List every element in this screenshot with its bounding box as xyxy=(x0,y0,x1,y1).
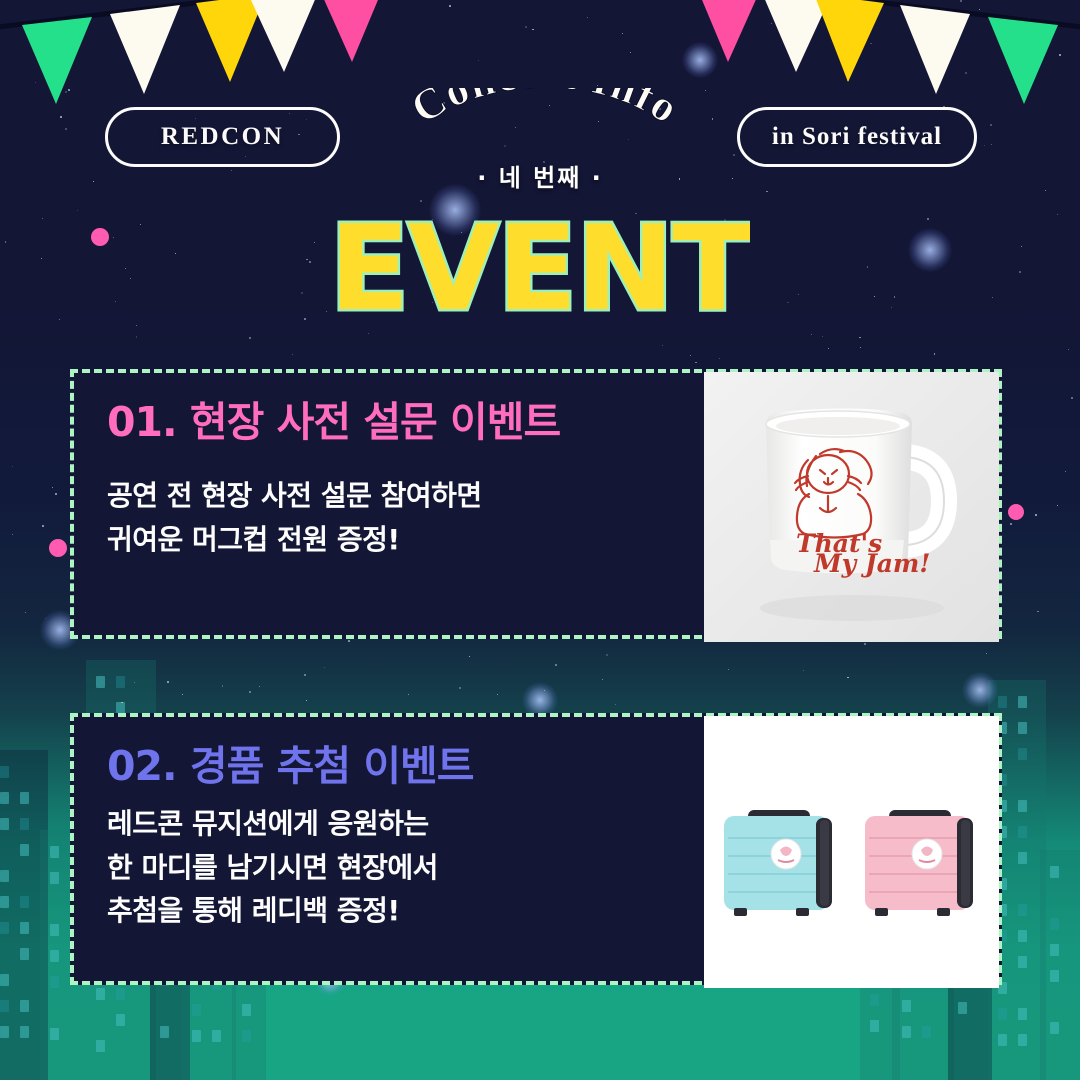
building-window xyxy=(1050,866,1059,878)
building-window xyxy=(1018,696,1027,708)
building-window xyxy=(1018,956,1027,968)
star xyxy=(12,466,13,467)
building-window xyxy=(212,1030,221,1042)
building-window xyxy=(870,1020,879,1032)
flag-right-yellow xyxy=(814,0,884,82)
building-window xyxy=(998,1034,1007,1046)
building-window xyxy=(116,988,125,1000)
pink-dot-2 xyxy=(49,539,67,557)
building-window xyxy=(20,948,29,960)
building-window xyxy=(0,922,9,934)
star xyxy=(1037,611,1039,613)
building xyxy=(1040,850,1080,1080)
building-window xyxy=(50,1028,59,1040)
mug-photo: That's My Jam! xyxy=(704,372,999,642)
building-window xyxy=(96,1040,105,1052)
star xyxy=(860,347,861,348)
building-window xyxy=(50,924,59,936)
star xyxy=(182,694,183,695)
building-window xyxy=(998,1008,1007,1020)
flag-right-pink xyxy=(692,0,762,62)
building-window xyxy=(1050,1022,1059,1034)
building-window xyxy=(0,766,9,778)
star xyxy=(1035,515,1036,516)
star xyxy=(695,362,697,364)
building-window xyxy=(20,818,29,830)
building-window xyxy=(50,872,59,884)
building-window xyxy=(1050,970,1059,982)
star xyxy=(555,664,557,666)
star xyxy=(304,674,305,675)
building-window xyxy=(116,676,125,688)
star xyxy=(719,358,720,359)
card-1-title: 01. 현장 사전 설문 이벤트 xyxy=(107,399,560,446)
star xyxy=(306,700,307,701)
building-window xyxy=(1018,1034,1027,1046)
building-window xyxy=(0,1026,9,1038)
star xyxy=(984,145,985,146)
building-window xyxy=(96,676,105,688)
mug-print-line-2: My Jam! xyxy=(813,549,930,578)
star xyxy=(45,618,46,619)
building-window xyxy=(20,844,29,856)
building-window xyxy=(1018,904,1027,916)
card-2-desc-line-1: 레드콘 뮤지션에게 응원하는 xyxy=(107,802,474,845)
building-window xyxy=(958,1002,967,1014)
building-window xyxy=(50,950,59,962)
building-window xyxy=(192,1004,201,1016)
building-window xyxy=(1018,722,1027,734)
suitcase-photo xyxy=(704,716,999,988)
star xyxy=(934,353,935,354)
building-window xyxy=(870,994,879,1006)
card-1-description: 공연 전 현장 사전 설문 참여하면 귀여운 머그컵 전원 증정! xyxy=(107,474,560,561)
star xyxy=(222,685,224,687)
building-window xyxy=(20,1000,29,1012)
building-window xyxy=(1018,748,1027,760)
flag-right-white-2 xyxy=(900,5,970,94)
star-glow xyxy=(962,672,998,708)
card-2-body: 02. 경품 추첨 이벤트 레드콘 뮤지션에게 응원하는 한 마디를 남기시면 … xyxy=(107,743,474,932)
building-window xyxy=(116,1014,125,1026)
star xyxy=(690,355,692,357)
building-window xyxy=(242,1030,251,1042)
star xyxy=(408,694,409,695)
star xyxy=(1065,471,1066,472)
star xyxy=(1057,505,1058,506)
star xyxy=(324,667,326,669)
star xyxy=(986,653,987,654)
star xyxy=(167,681,169,683)
flag-left-white-2 xyxy=(250,0,320,72)
star xyxy=(847,677,849,679)
flag-left-green xyxy=(22,17,92,104)
building-window xyxy=(20,922,29,934)
building-window xyxy=(20,896,29,908)
star xyxy=(469,656,470,657)
star xyxy=(348,640,350,642)
star xyxy=(121,702,122,703)
star xyxy=(1010,523,1012,525)
card-1-desc-line-1: 공연 전 현장 사전 설문 참여하면 xyxy=(107,474,560,517)
star xyxy=(828,348,829,349)
star xyxy=(615,704,617,706)
flag-right-white xyxy=(760,0,830,72)
star xyxy=(52,487,53,488)
building-window xyxy=(902,1026,911,1038)
card-1-body: 01. 현장 사전 설문 이벤트 공연 전 현장 사전 설문 참여하면 귀여운 … xyxy=(107,399,560,561)
arc-subtitle: · 네 번째 · xyxy=(0,158,1080,193)
star xyxy=(1071,397,1073,399)
pink-dot-4 xyxy=(1008,504,1024,520)
svg-text:Concert Info: Concert Info xyxy=(403,88,689,133)
flag-left-yellow xyxy=(196,0,266,82)
star xyxy=(249,691,251,693)
building-window xyxy=(96,988,105,1000)
card-2-desc-line-3: 추첨을 통해 레디백 증정! xyxy=(107,889,474,932)
card-2-title: 02. 경품 추첨 이벤트 xyxy=(107,743,474,790)
building-window xyxy=(160,1026,169,1038)
star xyxy=(991,144,993,146)
building-window xyxy=(1050,918,1059,930)
suitcase-blue xyxy=(724,810,832,916)
event-card-1[interactable]: 01. 현장 사전 설문 이벤트 공연 전 현장 사전 설문 참여하면 귀여운 … xyxy=(70,369,1002,639)
star xyxy=(728,669,729,670)
star xyxy=(497,694,498,695)
building-window xyxy=(998,696,1007,708)
building-window xyxy=(1018,800,1027,812)
star xyxy=(292,354,293,355)
building-window xyxy=(1018,930,1027,942)
pink-dot-1 xyxy=(91,228,109,246)
suitcase-pink xyxy=(865,810,973,916)
building xyxy=(0,750,48,1080)
building-window xyxy=(902,1000,911,1012)
event-headline: EVENT xyxy=(0,205,1080,345)
star xyxy=(420,200,422,202)
building-window xyxy=(1050,944,1059,956)
star xyxy=(1035,514,1037,516)
card-2-description: 레드콘 뮤지션에게 응원하는 한 마디를 남기시면 현장에서 추첨을 통해 레디… xyxy=(107,802,474,932)
building-window xyxy=(50,976,59,988)
arc-title-text: Concert Info xyxy=(403,88,689,133)
star xyxy=(733,154,735,156)
building-window xyxy=(50,846,59,858)
building-window xyxy=(1018,826,1027,838)
building-window xyxy=(1018,852,1027,864)
badge-festival-label: in Sori festival xyxy=(772,123,942,151)
star xyxy=(602,679,603,680)
card-1-desc-line-2: 귀여운 머그컵 전원 증정! xyxy=(107,518,560,561)
building-window xyxy=(1018,1008,1027,1020)
building-window xyxy=(192,1030,201,1042)
star xyxy=(606,654,608,656)
star xyxy=(864,643,866,645)
event-headline-text: EVENT xyxy=(330,205,750,335)
star xyxy=(1068,349,1069,350)
flag-right-green xyxy=(988,17,1058,104)
building-window xyxy=(20,792,29,804)
building-window xyxy=(0,896,9,908)
star xyxy=(544,690,545,691)
poster-canvas: REDCON in Sori festival Concert Info · 네… xyxy=(0,0,1080,1080)
star xyxy=(459,687,461,689)
building-window xyxy=(20,1026,29,1038)
star xyxy=(803,670,804,671)
building-window xyxy=(922,1026,931,1038)
flag-left-white xyxy=(110,5,180,94)
star xyxy=(25,612,26,613)
flag-left-pink xyxy=(318,0,388,62)
badge-redcon-label: REDCON xyxy=(161,123,284,151)
building-window xyxy=(0,870,9,882)
building-window xyxy=(0,792,9,804)
star xyxy=(134,682,135,683)
star xyxy=(42,525,44,527)
building-window xyxy=(0,818,9,830)
event-card-2[interactable]: 02. 경품 추첨 이벤트 레드콘 뮤지션에게 응원하는 한 마디를 남기시면 … xyxy=(70,713,1002,985)
building-window xyxy=(242,1004,251,1016)
star xyxy=(12,534,13,535)
building-window xyxy=(0,1000,9,1012)
star xyxy=(259,686,260,687)
star xyxy=(55,493,57,495)
building-window xyxy=(0,974,9,986)
card-2-desc-line-2: 한 마디를 남기시면 현장에서 xyxy=(107,846,474,889)
